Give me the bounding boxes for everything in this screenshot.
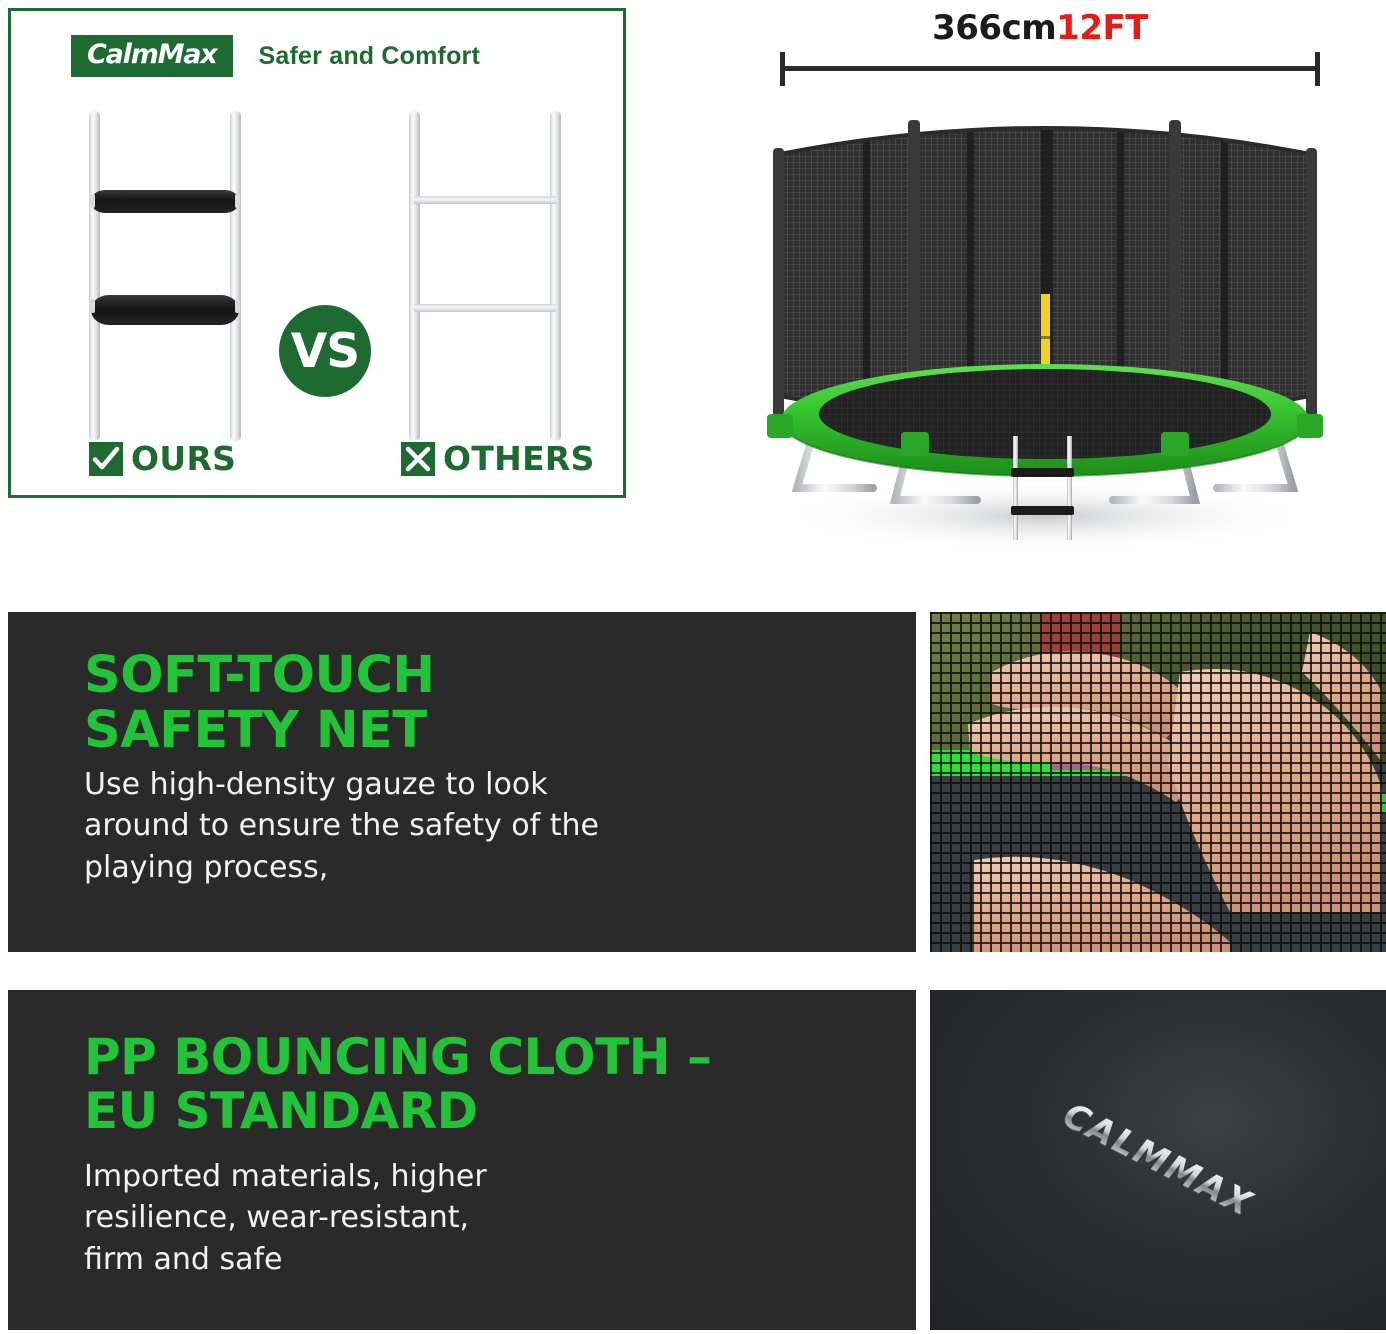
bare-metal-rung [413,196,557,204]
jump-mat-with-calmmax-logo-photo: CALMMAX [930,990,1386,1330]
hand-pressing-safety-net-photo [930,612,1386,952]
dimension-line [780,66,1320,71]
product-infographic: CalmMax Safer and Comfort VS [0,0,1386,1334]
dimension-callout: 366cm12FT [760,8,1320,88]
feature-heading: SOFT-TOUCH SAFETY NET [84,648,435,758]
calmmax-logo-badge: CalmMax [71,35,233,77]
others-label: OTHERS [443,439,595,478]
ours-ladder-illustration [89,111,241,441]
ladder-rail-right [550,111,561,441]
feature-panel-soft-touch-safety-net: SOFT-TOUCH SAFETY NET Use high-density g… [8,612,916,952]
padded-step [91,295,239,325]
feature-body: Use high-density gauze to look around to… [84,764,644,888]
ladder-rail-right [230,111,241,441]
feature-panel-pp-bouncing-cloth: PP BOUNCING CLOTH – EU STANDARD Imported… [8,990,916,1330]
bare-metal-rung [413,304,557,312]
ladder-rail-left [409,111,420,441]
comparison-tagline: Safer and Comfort [259,42,480,71]
dimension-metric: 366cm [932,8,1056,48]
check-icon [89,442,123,476]
comparison-header: CalmMax Safer and Comfort [71,35,480,77]
others-label-group: OTHERS [401,439,595,478]
ours-label: OURS [131,439,236,478]
dimension-end-cap-right [1315,52,1320,86]
comparison-box: CalmMax Safer and Comfort VS [8,8,626,498]
calmmax-mat-logo: CALMMAX [1057,1095,1260,1225]
feature-heading: PP BOUNCING CLOTH – EU STANDARD [84,1030,712,1138]
ours-label-group: OURS [89,439,236,478]
others-ladder-illustration [409,111,561,441]
feature-body: Imported materials, higher resilience, w… [84,1156,554,1280]
dimension-imperial: 12FT [1056,8,1148,48]
ladder-comparison-illustration: VS [11,111,623,441]
vs-badge: VS [279,305,371,397]
dimension-label: 366cm12FT [760,8,1320,48]
cross-icon [401,442,435,476]
padded-step [91,190,239,213]
trampoline-product-image [745,96,1345,551]
comparison-footer: OURS OTHERS [11,439,623,489]
ladder-rail-left [89,111,100,441]
